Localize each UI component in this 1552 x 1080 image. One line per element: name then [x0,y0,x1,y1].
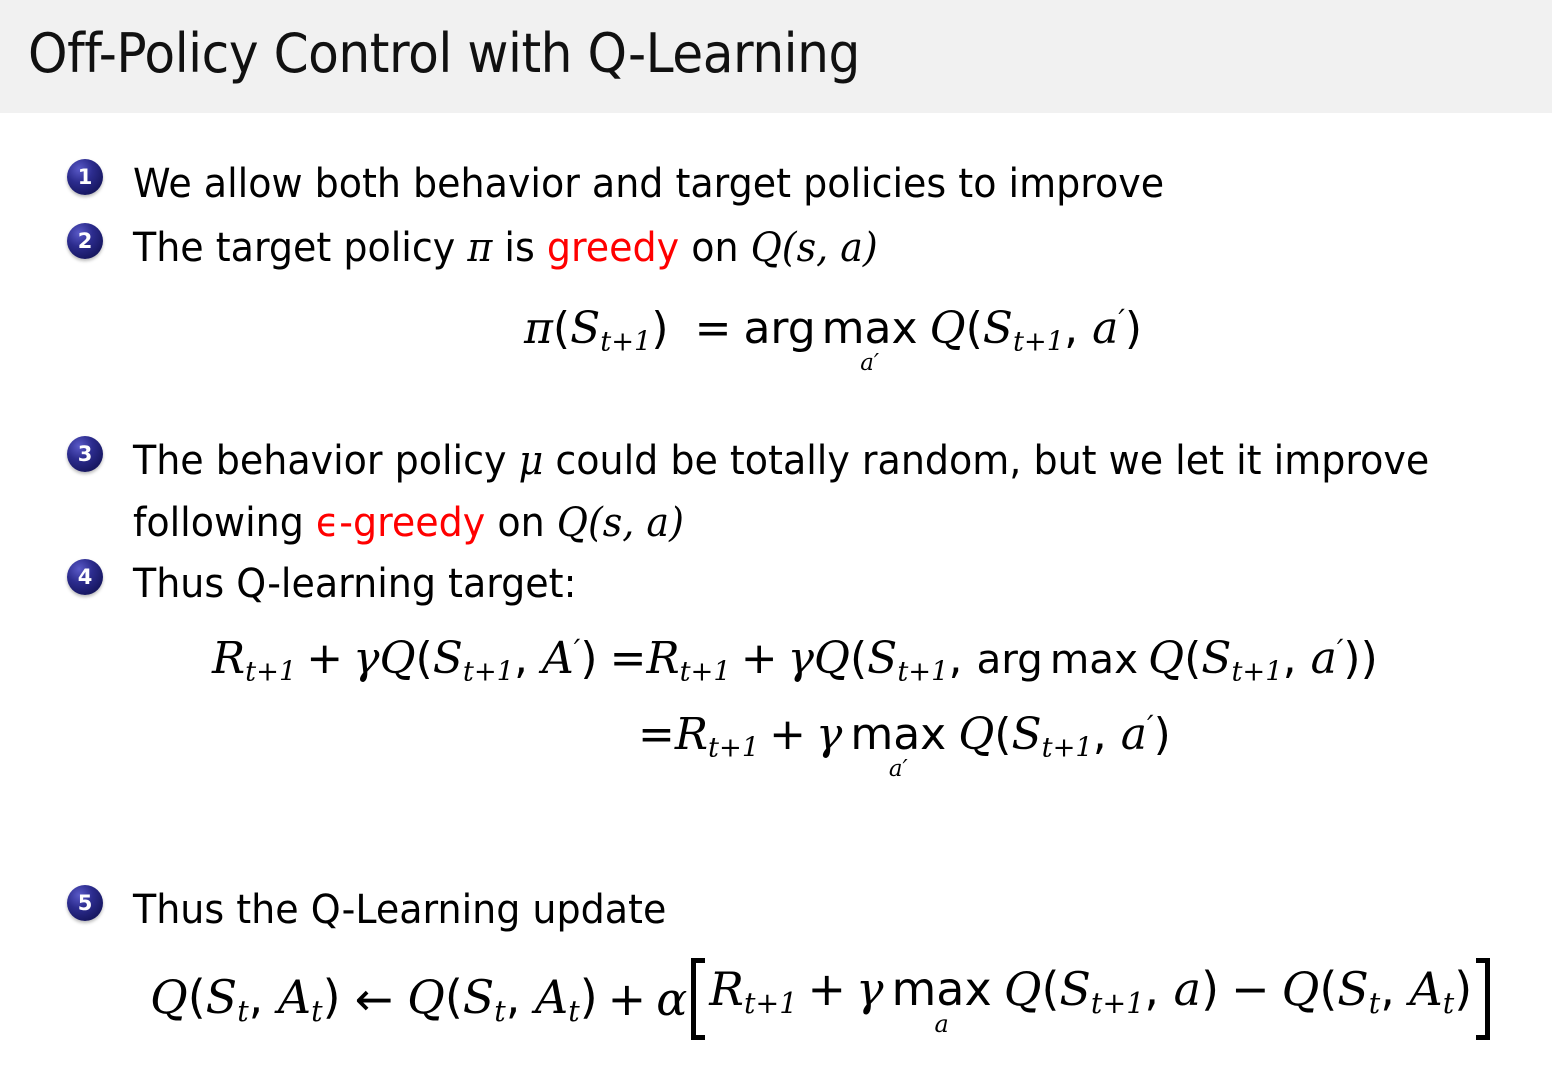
slide-header-band: Off-Policy Control with Q-Learning [0,0,1552,113]
eq2b-a-prime: ′ [1147,709,1154,743]
eq2b-Q: Q [958,709,994,760]
eq2a-plus: + [306,633,343,684]
eq1-rhs-S: S [983,303,1013,354]
eq3-arrow: ← [355,972,394,1026]
eq3-plus: + [608,972,647,1026]
equation-target-line-2: =Rt+1+γmaxa′Q(St+1, a′) [638,709,1171,781]
eq3-bracket-close [1476,958,1490,1040]
eq2a-S-sub: t+1 [463,657,514,688]
eq1-max-operator: maxa′ [822,307,918,375]
eq1-equals: = [695,303,732,354]
item2-pi-symbol: π [467,225,492,271]
eq2a-arg: arg [976,635,1042,683]
item3-highlight-eps-greedy: ϵ-greedy [316,500,485,546]
eq1-S: S [570,303,600,354]
eq2a-paren-close: ) [580,633,597,684]
eq2a-comma: , [514,633,542,684]
eq3-alpha: α [656,972,687,1026]
eq2a-rhs-R-sub: t+1 [680,657,731,688]
eq2a-R-sub: t+1 [245,657,296,688]
list-item-3-label: The behavior policy μ could be totally r… [133,430,1552,554]
eq2a-inner-Q: Q [1148,633,1184,684]
eq2a-rhs-S-sub: t+1 [897,657,948,688]
eq1-rparen-close: ) [1125,303,1142,354]
eq1-S-sub: t+1 [600,327,651,358]
eq2a-equals: = [610,633,647,684]
eq2a-gamma: γ [353,633,379,684]
eq3-bracket-contents: Rt+1+γmaxaQ(St+1, a)−Q(St, At) [709,962,1472,1037]
eq3-rhs-q: Q(St, At) [407,970,598,1028]
slide-root: { "slide": { "title": "Off-Policy Contro… [0,0,1552,1080]
eq2a-inner-S: S [1201,633,1231,684]
eq1-pi: π [524,303,553,354]
eq1-max-label: max [822,307,918,351]
eq2a-inner-paren-close: ) [1343,633,1360,684]
equation-q-update: Q(St, At) ← Q(St, At) + α Rt+1+γmaxaQ(St… [150,958,1494,1040]
eq2a-outer-paren-close: ) [1361,633,1378,684]
bullet-marker-3: 3 [67,436,103,472]
item3-text-before: The behavior policy [133,438,519,484]
item3-math-q: Q(s, a) [557,500,684,546]
item3-mu-symbol: μ [519,438,544,484]
eq3-max-operator: maxa [891,966,991,1037]
eq1-comma: , [1064,303,1092,354]
eq1-arg: arg [743,303,815,354]
eq2a-rhs-Q: Q [814,633,850,684]
eq2a-rhs-S: S [867,633,897,684]
page-title: Off-Policy Control with Q-Learning [28,22,860,85]
eq2b-paren-close: ) [1154,709,1171,760]
eq2b-R-sub: t+1 [708,733,759,764]
eq2a-inner-paren-open: ( [1184,633,1201,684]
list-item-5-label: Thus the Q-Learning update [133,879,666,941]
equation-target-line-1: Rt+1+γQ(St+1, A′)=Rt+1+γQ(St+1, argmaxQ(… [212,633,1378,688]
eq2b-R: R [675,709,708,760]
eq2a-inner-a: a [1311,633,1337,684]
eq1-paren-open: ( [553,303,570,354]
list-item-4-label: Thus Q-learning target: [133,553,576,615]
eq3-lhs: Q(St, At) [150,970,341,1028]
eq1-max-limit: a′ [860,352,879,375]
item2-text-mid: is [492,225,547,271]
eq2a-paren-open: ( [416,633,433,684]
eq2a-A: A [542,633,574,684]
eq2b-comma: , [1093,709,1121,760]
eq2b-max-operator: maxa′ [850,713,946,781]
eq2a-max: max [1050,635,1138,683]
eq1-rhs-S-sub: t+1 [1013,327,1064,358]
eq2a-rhs-plus: + [741,633,778,684]
item2-text-after: on [679,225,751,271]
bullet-marker-2: 2 [67,223,103,259]
eq2b-paren-open: ( [994,709,1011,760]
eq2a-S: S [433,633,463,684]
eq2b-a: a [1121,709,1147,760]
eq1-rhs-prime: ′ [1118,303,1125,337]
eq2b-equals: = [638,709,675,760]
item3-text-after: on [485,500,557,546]
eq3-expression: Q(St, At) ← Q(St, At) + α Rt+1+γmaxaQ(St… [150,958,1494,1040]
eq2a-Q: Q [379,633,415,684]
list-item-1-label: We allow both behavior and target polici… [133,153,1164,215]
bullet-marker-5: 5 [67,885,103,921]
item2-math-q: Q(s, a) [751,225,878,271]
slide-content: 1 We allow both behavior and target poli… [0,113,1552,1080]
bullet-marker-4: 4 [67,559,103,595]
eq1-Q: Q [930,303,966,354]
eq2b-S: S [1011,709,1041,760]
eq1-rparen-open: ( [966,303,983,354]
eq1-paren-close: ) [651,303,668,354]
eq2b-gamma: γ [816,709,842,760]
eq2b-S-sub: t+1 [1042,733,1093,764]
eq2b-max-label: max [850,713,946,757]
eq2a-inner-comma: , [1283,633,1311,684]
equation-policy-argmax: π(St+1) =argmaxa′Q(St+1, a′) [524,303,1142,375]
item2-highlight-greedy: greedy [547,225,679,271]
item2-text-before: The target policy [133,225,467,271]
eq2b-max-limit: a′ [889,758,908,781]
eq2a-rhs-R: R [646,633,679,684]
eq3-bracket-open [691,958,705,1040]
eq2a-rhs-comma: , [948,633,976,684]
eq2b-plus: + [769,709,806,760]
list-item-2-label: The target policy π is greedy on Q(s, a) [133,217,878,279]
eq2a-R: R [212,633,245,684]
bullet-marker-1: 1 [67,159,103,195]
eq2a-rhs-gamma: γ [788,633,814,684]
eq2a-inner-S-sub: t+1 [1231,657,1282,688]
eq1-rhs-a: a [1092,303,1118,354]
eq2a-rhs-paren-open: ( [850,633,867,684]
